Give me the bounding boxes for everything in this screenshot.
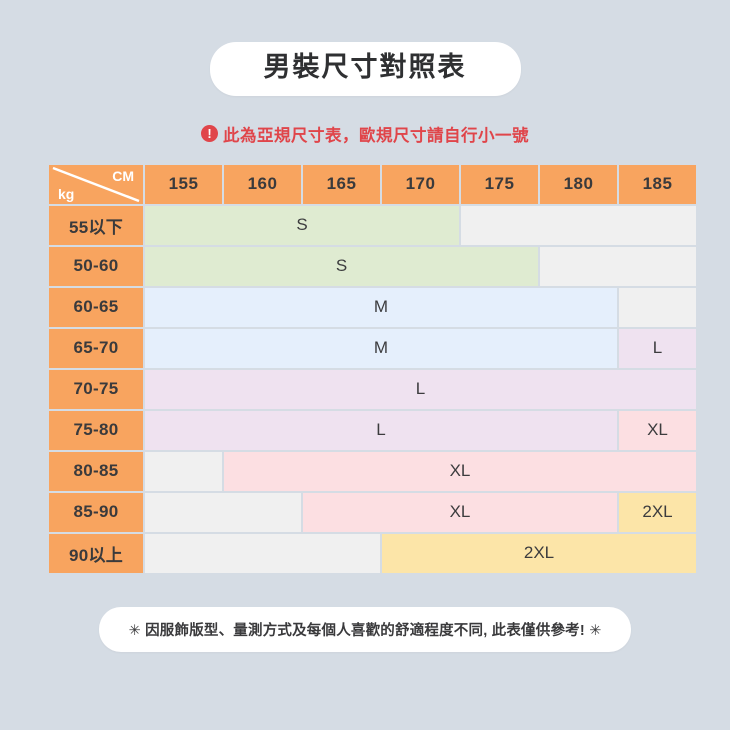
table-row: 60-65M bbox=[49, 288, 696, 327]
size-cell-empty bbox=[540, 247, 696, 286]
row-label-65-70: 65-70 bbox=[49, 329, 143, 368]
size-cell-L: L bbox=[145, 411, 617, 450]
row-label-60-65: 60-65 bbox=[49, 288, 143, 327]
size-cell-XL: XL bbox=[303, 493, 617, 532]
footer-note: ✳ 因服飾版型、量測方式及每個人喜歡的舒適程度不同, 此表僅供參考! ✳ bbox=[129, 619, 602, 640]
size-cell-label: M bbox=[374, 297, 388, 316]
asterisk-icon-left: ✳ bbox=[129, 623, 141, 639]
size-cell-label: L bbox=[653, 338, 662, 357]
size-cell-label: S bbox=[336, 256, 347, 275]
table-row: 75-80LXL bbox=[49, 411, 696, 450]
column-header-155: 155 bbox=[145, 165, 222, 204]
warning-note: ! 此為亞規尺寸表，歐規尺寸請自行小一號 bbox=[201, 122, 529, 146]
table-row: 85-90XL2XL bbox=[49, 493, 696, 532]
size-cell-empty bbox=[145, 493, 301, 532]
title-pill: 男裝尺寸對照表 bbox=[210, 42, 521, 96]
size-cell-M: M bbox=[145, 329, 617, 368]
column-header-180: 180 bbox=[540, 165, 617, 204]
column-header-175: 175 bbox=[461, 165, 538, 204]
table-header-row: CMkg155160165170175180185 bbox=[49, 165, 696, 204]
size-table-wrapper: CMkg15516016517017518018555以下S50-60S60-6… bbox=[47, 163, 683, 575]
size-cell-empty bbox=[145, 452, 222, 491]
row-label-90以上: 90以上 bbox=[49, 534, 143, 573]
size-cell-label: L bbox=[376, 420, 385, 439]
footer-pill: ✳ 因服飾版型、量測方式及每個人喜歡的舒適程度不同, 此表僅供參考! ✳ bbox=[99, 607, 632, 652]
size-cell-label: XL bbox=[647, 420, 668, 439]
size-cell-M: M bbox=[145, 288, 617, 327]
table-row: 80-85XL bbox=[49, 452, 696, 491]
size-table: CMkg15516016517017518018555以下S50-60S60-6… bbox=[47, 163, 698, 575]
size-cell-label: 2XL bbox=[524, 543, 554, 562]
table-row: 70-75L bbox=[49, 370, 696, 409]
size-cell-label: XL bbox=[450, 461, 471, 480]
table-row: 50-60S bbox=[49, 247, 696, 286]
size-cell-empty bbox=[461, 206, 696, 245]
size-cell-XL: XL bbox=[224, 452, 696, 491]
table-row: 65-70ML bbox=[49, 329, 696, 368]
size-cell-label: L bbox=[416, 379, 425, 398]
row-label-50-60: 50-60 bbox=[49, 247, 143, 286]
size-cell-S: S bbox=[145, 206, 459, 245]
size-cell-empty bbox=[145, 534, 380, 573]
column-header-185: 185 bbox=[619, 165, 696, 204]
size-chart-page: 男裝尺寸對照表 ! 此為亞規尺寸表，歐規尺寸請自行小一號 CMkg1551601… bbox=[0, 0, 730, 730]
page-title: 男裝尺寸對照表 bbox=[264, 53, 467, 83]
size-cell-label: M bbox=[374, 338, 388, 357]
footer-note-text: 因服飾版型、量測方式及每個人喜歡的舒適程度不同, 此表僅供參考! bbox=[145, 623, 585, 639]
size-cell-label: 2XL bbox=[642, 502, 672, 521]
column-header-160: 160 bbox=[224, 165, 301, 204]
row-label-75-80: 75-80 bbox=[49, 411, 143, 450]
row-label-80-85: 80-85 bbox=[49, 452, 143, 491]
row-label-70-75: 70-75 bbox=[49, 370, 143, 409]
size-cell-label: S bbox=[296, 215, 307, 234]
corner-cm-label: CM bbox=[112, 168, 134, 184]
row-label-85-90: 85-90 bbox=[49, 493, 143, 532]
asterisk-icon-right: ✳ bbox=[589, 623, 601, 639]
size-cell-empty bbox=[619, 288, 696, 327]
warning-text: 此為亞規尺寸表，歐規尺寸請自行小一號 bbox=[223, 122, 529, 146]
size-cell-S: S bbox=[145, 247, 538, 286]
row-label-55以下: 55以下 bbox=[49, 206, 143, 245]
axis-corner-cell: CMkg bbox=[49, 165, 143, 204]
table-row: 55以下S bbox=[49, 206, 696, 245]
size-cell-L: L bbox=[145, 370, 696, 409]
column-header-165: 165 bbox=[303, 165, 380, 204]
column-header-170: 170 bbox=[382, 165, 459, 204]
corner-kg-label: kg bbox=[58, 186, 74, 202]
table-row: 90以上2XL bbox=[49, 534, 696, 573]
size-cell-label: XL bbox=[450, 502, 471, 521]
size-cell-2XL: 2XL bbox=[619, 493, 696, 532]
exclamation-circle-icon: ! bbox=[201, 125, 218, 142]
size-cell-2XL: 2XL bbox=[382, 534, 696, 573]
size-cell-L: L bbox=[619, 329, 696, 368]
size-cell-XL: XL bbox=[619, 411, 696, 450]
